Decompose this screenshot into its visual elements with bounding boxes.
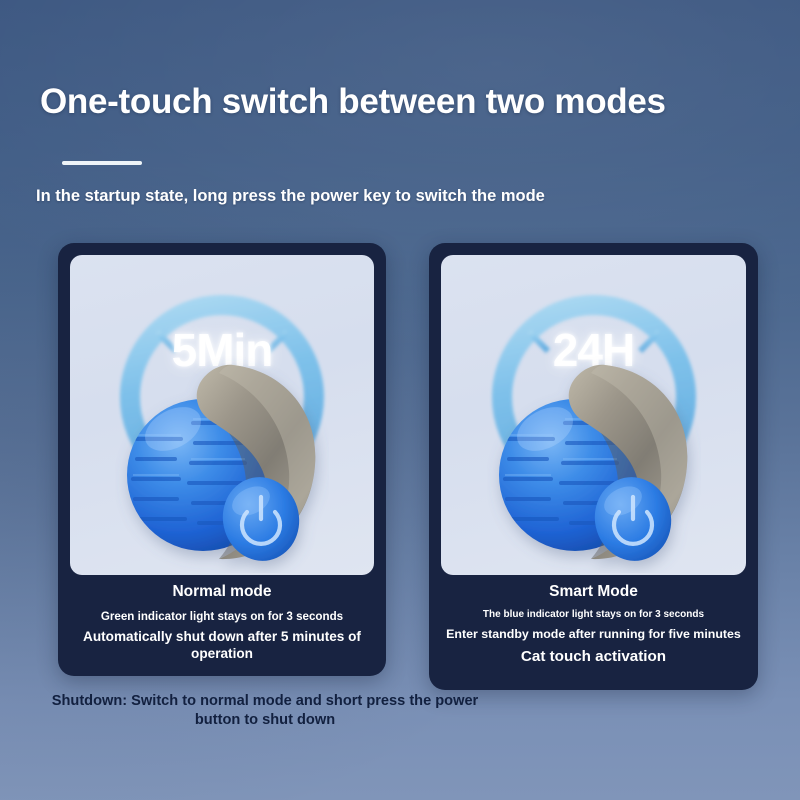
mode-detail-smart-1: The blue indicator light stays on for 3 … <box>439 609 748 621</box>
mode-card-normal-text: Normal mode Green indicator light stays … <box>68 583 376 664</box>
mode-title-normal: Normal mode <box>68 583 376 601</box>
title-accent-rule <box>62 161 142 165</box>
shutdown-note: Shutdown: Switch to normal mode and shor… <box>34 692 496 731</box>
mode-detail-normal-1: Green indicator light stays on for 3 sec… <box>68 610 376 624</box>
product-photo-normal: 5Min <box>70 255 374 575</box>
mode-card-normal: 5Min <box>58 243 386 676</box>
product-photo-smart: 24H <box>441 255 746 575</box>
mode-detail-smart-2: Enter standby mode after running for fiv… <box>439 627 748 642</box>
mode-title-smart: Smart Mode <box>439 583 748 601</box>
mode-card-smart: 24H <box>429 243 758 690</box>
product-feature-poster: One-touch switch between two modes In th… <box>0 0 800 800</box>
page-subtitle: In the startup state, long press the pow… <box>36 187 545 206</box>
page-title: One-touch switch between two modes <box>40 82 666 122</box>
mode-detail-normal-2: Automatically shut down after 5 minutes … <box>68 629 376 662</box>
product-ball-normal <box>115 347 329 573</box>
product-ball-smart <box>487 347 701 573</box>
mode-card-smart-text: Smart Mode The blue indicator light stay… <box>439 583 748 668</box>
mode-detail-smart-3: Cat touch activation <box>439 648 748 667</box>
